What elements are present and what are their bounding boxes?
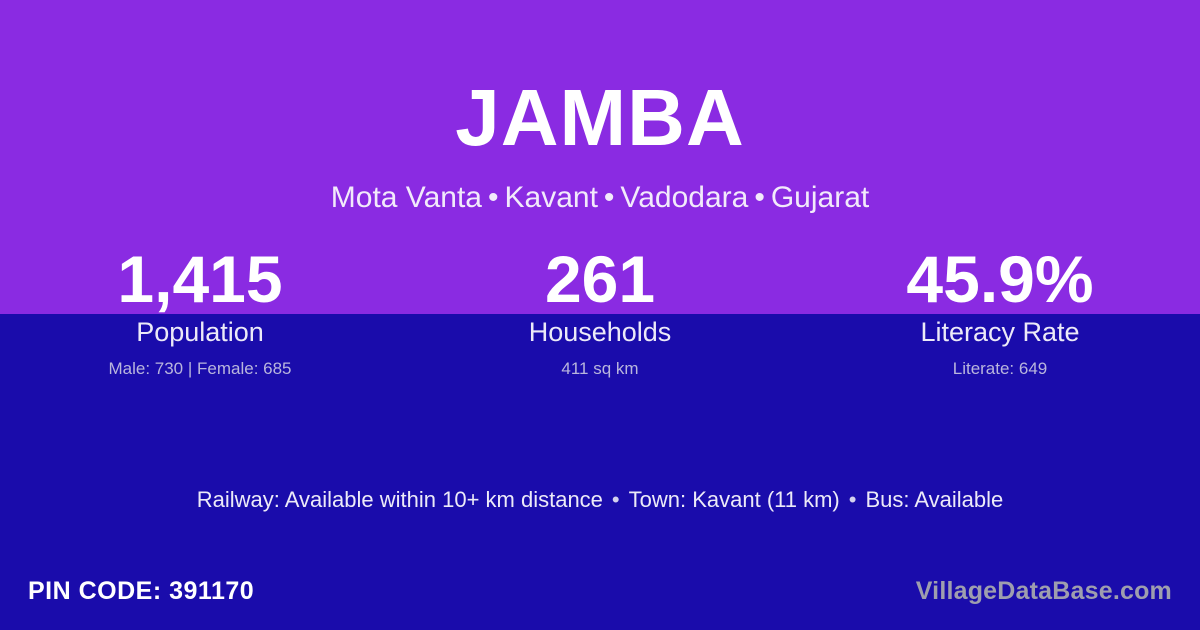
transport-separator: •: [603, 487, 629, 512]
breadcrumb: Mota Vanta•Kavant•Vadodara•Gujarat: [0, 183, 1200, 213]
stat-population: 1,415 Population Male: 730 | Female: 685: [0, 246, 400, 380]
village-info-card: JAMBA Mota Vanta•Kavant•Vadodara•Gujarat…: [0, 0, 1200, 630]
statistics-row: 1,415 Population Male: 730 | Female: 685…: [0, 246, 1200, 380]
card-header: JAMBA Mota Vanta•Kavant•Vadodara•Gujarat: [0, 0, 1200, 213]
stat-value: 45.9%: [800, 246, 1200, 314]
stat-label: Population: [0, 316, 400, 348]
breadcrumb-separator: •: [598, 181, 621, 214]
transport-item-railway: Railway: Available within 10+ km distanc…: [197, 487, 603, 512]
stat-value: 1,415: [0, 246, 400, 314]
breadcrumb-separator: •: [482, 181, 505, 214]
stat-sublabel: Literate: 649: [800, 359, 1200, 379]
stat-households: 261 Households 411 sq km: [400, 246, 800, 380]
breadcrumb-item-taluka: Kavant: [505, 181, 598, 214]
transport-info: Railway: Available within 10+ km distanc…: [0, 486, 1200, 515]
transport-item-town: Town: Kavant (11 km): [629, 487, 840, 512]
stat-label: Literacy Rate: [800, 316, 1200, 348]
stat-sublabel: 411 sq km: [400, 359, 800, 379]
breadcrumb-item-block: Mota Vanta: [331, 181, 482, 214]
site-brand: VillageDataBase.com: [916, 577, 1172, 606]
pin-code: PIN CODE: 391170: [28, 577, 254, 606]
stat-literacy-rate: 45.9% Literacy Rate Literate: 649: [800, 246, 1200, 380]
stat-label: Households: [400, 316, 800, 348]
breadcrumb-separator: •: [748, 181, 771, 214]
transport-separator: •: [840, 487, 866, 512]
page-title: JAMBA: [0, 78, 1200, 158]
stat-sublabel: Male: 730 | Female: 685: [0, 359, 400, 379]
transport-item-bus: Bus: Available: [865, 487, 1003, 512]
stat-value: 261: [400, 246, 800, 314]
card-footer: PIN CODE: 391170 VillageDataBase.com: [0, 552, 1200, 630]
breadcrumb-item-district: Vadodara: [620, 181, 748, 214]
breadcrumb-item-state: Gujarat: [771, 181, 869, 214]
